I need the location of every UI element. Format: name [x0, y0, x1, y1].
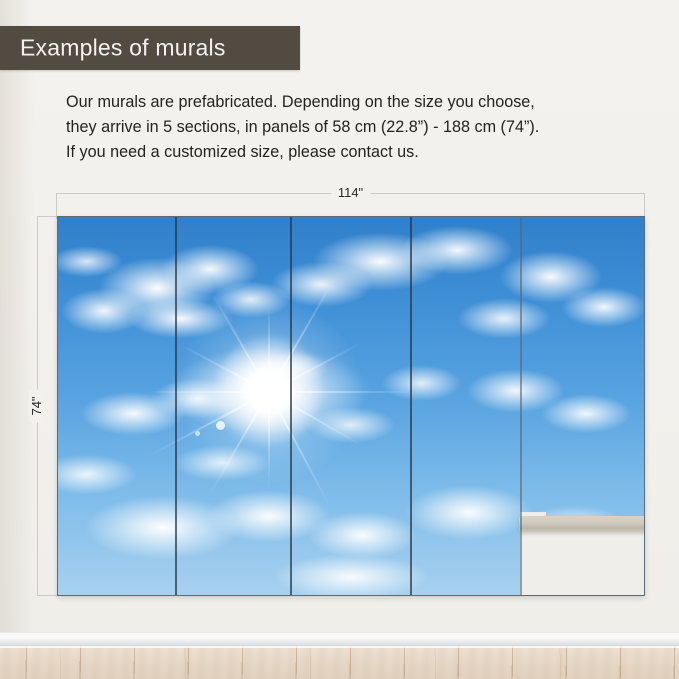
page-title: Examples of murals [20, 35, 226, 62]
wood-floor [0, 646, 679, 679]
description-block: Our murals are prefabricated. Depending … [66, 90, 636, 165]
description-line-2: they arrive in 5 sections, in panels of … [66, 115, 636, 140]
width-dimension-label: 114" [331, 185, 370, 200]
description-line-3: If you need a customized size, please co… [66, 140, 636, 165]
peeling-paper-strip [519, 516, 645, 532]
mural-preview [57, 216, 645, 596]
height-dimension-label: 74" [29, 389, 44, 422]
mural-example-page: Examples of murals Our murals are prefab… [0, 0, 679, 679]
description-line-1: Our murals are prefabricated. Depending … [66, 90, 636, 115]
page-title-banner: Examples of murals [0, 26, 300, 70]
floor-edge-highlight [0, 646, 679, 648]
unapplied-wall-area [520, 523, 645, 596]
height-dimension-bracket: 74" [37, 216, 59, 596]
baseboard [0, 632, 679, 647]
